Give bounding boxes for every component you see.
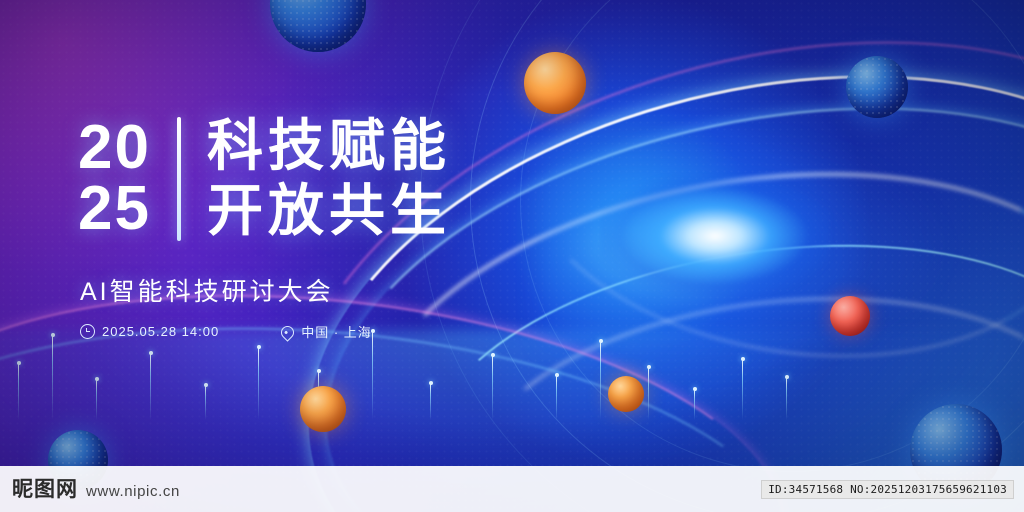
event-poster: 20 25 科技赋能 开放共生 AI智能科技研讨大会 2025.05.28 14…	[0, 0, 1024, 512]
meta-datetime: 2025.05.28 14:00	[80, 324, 219, 339]
meta-location-text: 中国 · 上海	[301, 322, 372, 341]
site-url: www.nipic.cn	[86, 483, 180, 500]
sphere-mesh-icon	[846, 56, 908, 118]
meta-datetime-text: 2025.05.28 14:00	[102, 324, 219, 339]
site-brand-name: 昵图网	[12, 473, 78, 503]
sphere-orange-mid	[608, 376, 644, 412]
sphere-blue-top	[270, 0, 366, 52]
clock-icon	[80, 324, 95, 339]
sphere-red-right	[830, 296, 870, 336]
headline-divider	[177, 117, 181, 241]
title-line-1: 科技赋能	[207, 114, 451, 179]
sphere-orange-bottom	[300, 386, 346, 432]
meta-location: 中国 · 上海	[281, 322, 372, 341]
event-meta: 2025.05.28 14:00 中国 · 上海	[80, 322, 372, 341]
sphere-blue-top-right	[846, 56, 908, 118]
title-line-2: 开放共生	[207, 179, 451, 244]
watermark-bar: 昵图网 www.nipic.cn ID:34571568 NO:20251203…	[0, 466, 1024, 512]
center-glow-core	[600, 176, 830, 296]
site-logo[interactable]: 昵图网 www.nipic.cn	[12, 473, 180, 503]
year-stack: 20 25	[78, 118, 151, 240]
subtitle: AI智能科技研讨大会	[80, 272, 334, 308]
sphere-mesh-icon	[270, 0, 366, 52]
asset-id-label: ID:34571568 NO:20251203175659621103	[761, 480, 1014, 499]
year-top: 20	[78, 118, 151, 179]
title-stack: 科技赋能 开放共生	[207, 114, 451, 244]
location-pin-icon	[279, 323, 297, 341]
headline-block: 20 25 科技赋能 开放共生	[78, 114, 451, 244]
year-bottom: 25	[78, 179, 151, 240]
sphere-orange-top	[524, 52, 586, 114]
